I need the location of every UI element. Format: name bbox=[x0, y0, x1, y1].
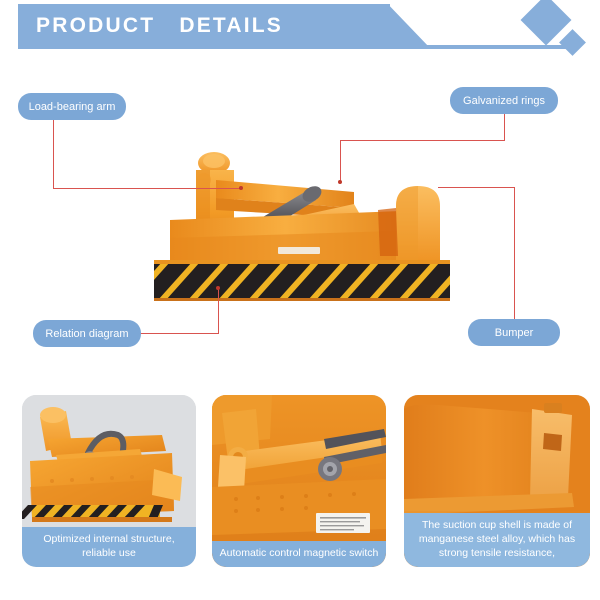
callout-galvanized-rings[interactable]: Galvanized rings bbox=[450, 87, 558, 114]
product-details-page: PRODUCT DETAILS bbox=[0, 0, 600, 600]
callout-bumper[interactable]: Bumper bbox=[468, 319, 560, 346]
page-title: PRODUCT DETAILS bbox=[36, 4, 283, 48]
card-1-caption: Optimized internal structure, reliable u… bbox=[22, 527, 196, 567]
feature-card-optimized-structure[interactable]: Optimized internal structure, reliable u… bbox=[22, 395, 196, 567]
header-wedge-shape bbox=[366, 4, 430, 48]
page-header: PRODUCT DETAILS bbox=[0, 0, 600, 62]
anchor-dot-relation-diagram bbox=[216, 286, 220, 290]
anchor-dot-load-bearing-arm bbox=[239, 186, 243, 190]
anchor-dot-galvanized-rings bbox=[338, 180, 342, 184]
card-3-caption: The suction cup shell is made of mangane… bbox=[404, 513, 590, 567]
leader-load-bearing-arm-h bbox=[53, 188, 241, 189]
diamond-small-icon bbox=[559, 29, 586, 56]
feature-card-magnetic-switch[interactable]: Automatic control magnetic switch bbox=[212, 395, 386, 567]
feature-card-suction-cup-shell[interactable]: The suction cup shell is made of mangane… bbox=[404, 395, 590, 567]
leader-bumper-h bbox=[438, 187, 515, 188]
magnetic-lifter-illustration bbox=[140, 152, 480, 312]
leader-relation-diagram-v bbox=[218, 287, 219, 334]
card-2-caption: Automatic control magnetic switch bbox=[212, 541, 386, 567]
leader-relation-diagram-h bbox=[141, 333, 219, 334]
leader-load-bearing-arm-v bbox=[53, 120, 54, 188]
feature-cards: Optimized internal structure, reliable u… bbox=[0, 395, 600, 575]
leader-bumper-v2 bbox=[514, 187, 515, 287]
callout-load-bearing-arm[interactable]: Load-bearing arm bbox=[18, 93, 126, 120]
callout-relation-diagram[interactable]: Relation diagram bbox=[33, 320, 141, 347]
leader-galvanized-rings-v1 bbox=[504, 114, 505, 140]
leader-galvanized-rings-v2 bbox=[340, 140, 341, 182]
leader-bumper-v1 bbox=[514, 287, 515, 320]
leader-galvanized-rings-h bbox=[340, 140, 505, 141]
product-main-image bbox=[140, 152, 480, 312]
